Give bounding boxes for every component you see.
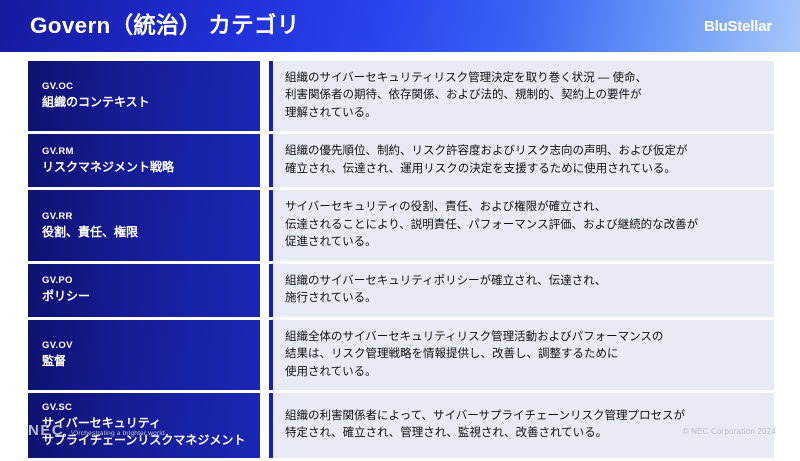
description-line: 組織全体のサイバーセキュリティリスク管理活動およびパフォーマンスの xyxy=(285,329,764,346)
category-cell: GV.OC組織のコンテキスト xyxy=(28,61,260,131)
category-name-line: ポリシー xyxy=(42,289,260,305)
description-cell: 組織のサイバーセキュリティポリシーが確立され、伝達され、施行されている。 xyxy=(269,264,774,317)
category-cell: GV.RR役割、責任、権限 xyxy=(28,190,260,260)
description-line: 促進されている。 xyxy=(285,234,764,251)
category-cell: GV.RMリスクマネジメント戦略 xyxy=(28,134,260,187)
nec-tagline: \Orchestrating a brighter world xyxy=(71,430,165,437)
nec-logo: NEC \Orchestrating a brighter world xyxy=(28,422,165,439)
category-id: GV.RR xyxy=(42,211,260,224)
category-name-line: 役割、責任、権限 xyxy=(42,225,260,241)
category-cell: GV.POポリシー xyxy=(28,264,260,317)
description-line: 利害関係者の期待、依存関係、および法的、規制的、契約上の要件が xyxy=(285,87,764,104)
category-id: GV.SC xyxy=(42,402,260,415)
slide-footer: NEC \Orchestrating a brighter world © NE… xyxy=(0,414,800,450)
table-row: GV.OV監督組織全体のサイバーセキュリティリスク管理活動およびパフォーマンスの… xyxy=(28,320,774,390)
table-row: GV.OC組織のコンテキスト組織のサイバーセキュリティリスク管理決定を取り巻く状… xyxy=(28,61,774,131)
category-id: GV.OV xyxy=(42,340,260,353)
table-row: GV.POポリシー組織のサイバーセキュリティポリシーが確立され、伝達され、施行さ… xyxy=(28,264,774,317)
category-id: GV.RM xyxy=(42,146,260,159)
description-line: 使用されている。 xyxy=(285,364,764,381)
govern-category-table: GV.OC組織のコンテキスト組織のサイバーセキュリティリスク管理決定を取り巻く状… xyxy=(28,61,774,461)
description-cell: 組織全体のサイバーセキュリティリスク管理活動およびパフォーマンスの結果は、リスク… xyxy=(269,320,774,390)
description-line: 組織のサイバーセキュリティポリシーが確立され、伝達され、 xyxy=(285,273,764,290)
description-line: サイバーセキュリティの役割、責任、および権限が確立され、 xyxy=(285,199,764,216)
description-line: 組織の優先順位、制約、リスク許容度およびリスク志向の声明、および仮定が xyxy=(285,143,764,160)
description-line: 確立され、伝達され、運用リスクの決定を支援するために使用されている。 xyxy=(285,161,764,178)
description-cell: 組織の優先順位、制約、リスク許容度およびリスク志向の声明、および仮定が確立され、… xyxy=(269,134,774,187)
category-id: GV.PO xyxy=(42,275,260,288)
description-line: 組織のサイバーセキュリティリスク管理決定を取り巻く状況 ― 使命、 xyxy=(285,70,764,87)
blustellar-logo: BluStellar xyxy=(704,18,782,35)
category-cell: GV.OV監督 xyxy=(28,320,260,390)
table-row: GV.RMリスクマネジメント戦略組織の優先順位、制約、リスク許容度およびリスク志… xyxy=(28,134,774,187)
description-line: 施行されている。 xyxy=(285,290,764,307)
category-name-line: リスクマネジメント戦略 xyxy=(42,160,260,176)
copyright-notice: © NEC Corporation 2024 xyxy=(683,427,776,436)
nec-wordmark: NEC xyxy=(28,422,64,439)
description-line: 結果は、リスク管理戦略を情報提供し、改善し、調整するために xyxy=(285,346,764,363)
page-title: Govern（統治） カテゴリ xyxy=(30,15,300,38)
table-row: GV.RR役割、責任、権限サイバーセキュリティの役割、責任、および権限が確立され… xyxy=(28,190,774,260)
description-line: 理解されている。 xyxy=(285,105,764,122)
description-cell: サイバーセキュリティの役割、責任、および権限が確立され、伝達されることにより、説… xyxy=(269,190,774,260)
category-id: GV.OC xyxy=(42,81,260,94)
category-name-line: 監督 xyxy=(42,354,260,370)
description-cell: 組織のサイバーセキュリティリスク管理決定を取り巻く状況 ― 使命、利害関係者の期… xyxy=(269,61,774,131)
description-line: 伝達されることにより、説明責任、パフォーマンス評価、および継続的な改善が xyxy=(285,217,764,234)
category-name-line: 組織のコンテキスト xyxy=(42,95,260,111)
slide-header: Govern（統治） カテゴリ BluStellar xyxy=(0,0,800,52)
